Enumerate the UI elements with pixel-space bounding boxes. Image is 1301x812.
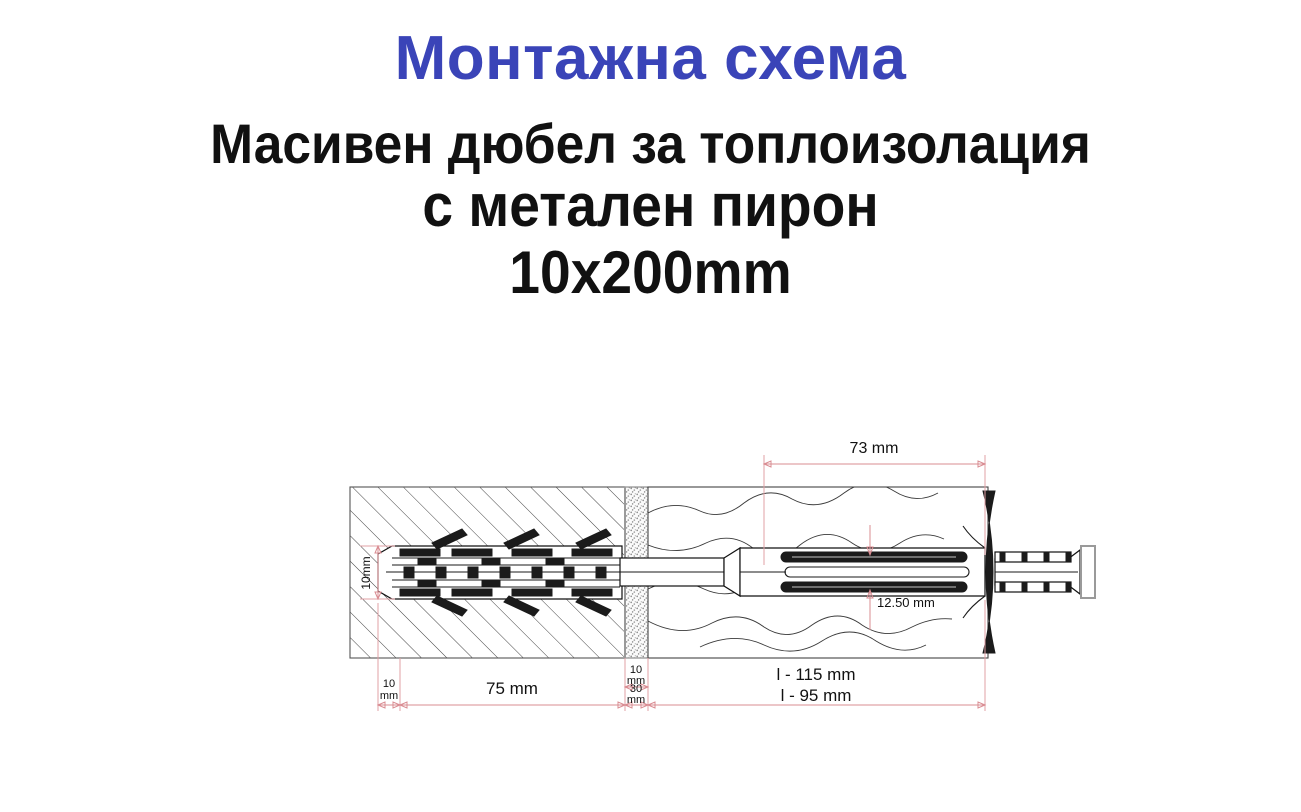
product-size-label: 10x200mm: [52, 239, 1249, 306]
dim-label-10-a: 10: [383, 678, 395, 690]
dim-label-10mm-vertical: 10mm: [359, 556, 373, 589]
diagram-svg: 73 mm 10mm 12.50 mm 10 mm: [0, 415, 1301, 745]
dimension-drill-overdepth: 10 mm: [378, 678, 400, 708]
page-title: Монтажна схема: [0, 28, 1301, 90]
subtitle-line-2: с метален пирон: [52, 172, 1249, 239]
dim-label-mm-c: mm: [627, 694, 645, 706]
dim-label-1250mm: 12.50 mm: [877, 595, 935, 610]
dim-label-l-95mm: l - 95 mm: [781, 686, 852, 705]
part-expansion-zone: [740, 548, 985, 596]
dim-label-mm-a: mm: [380, 690, 398, 702]
dim-label-73mm: 73 mm: [850, 440, 899, 457]
mounting-diagram: 73 mm 10mm 12.50 mm 10 mm: [0, 415, 1301, 745]
dim-label-75mm: 75 mm: [486, 679, 538, 698]
dimension-chain-bottom: 10 mm 75 mm 10 mm 30 mm: [378, 664, 985, 708]
part-nail-head: [995, 550, 1080, 594]
heading-block: Монтажна схема Масивен дюбел за топлоизо…: [0, 0, 1301, 306]
subtitle-line-1: Масивен дюбел за топлоизолация: [52, 116, 1249, 172]
part-nail-cap: [1081, 546, 1095, 598]
dim-label-l-115mm: l - 115 mm: [776, 665, 855, 684]
dimension-wall-embedment: 75 mm: [400, 679, 625, 708]
dimension-insulation-span: l - 115 mm l - 95 mm: [648, 665, 985, 708]
